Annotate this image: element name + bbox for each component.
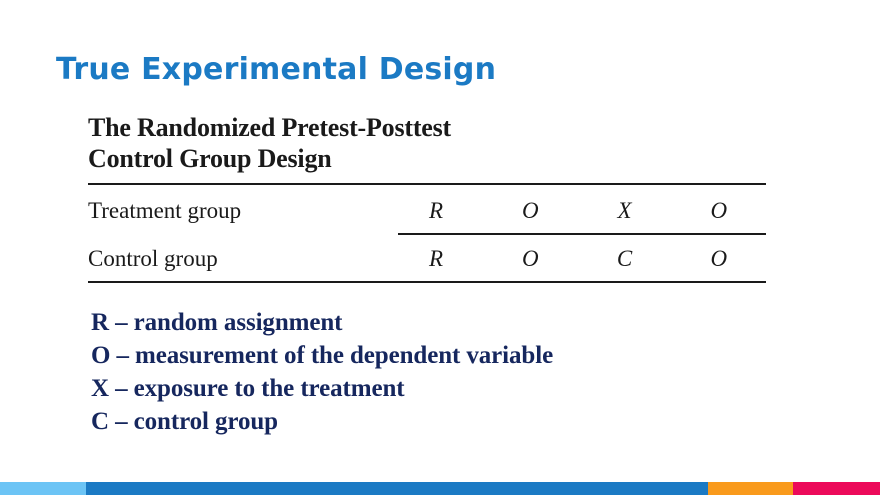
legend-item-x: X – exposure to the treatment (91, 372, 553, 405)
bottom-accent-bar (0, 482, 880, 495)
cell-control-symbol-4: O (672, 235, 766, 281)
table-middle-rule-line (398, 233, 766, 235)
design-heading: The Randomized Pretest-Posttest Control … (88, 112, 766, 174)
page-title: True Experimental Design (56, 52, 496, 87)
accent-segment-blue (86, 482, 708, 495)
legend-item-r: R – random assignment (91, 306, 553, 339)
design-heading-line-2: Control Group Design (88, 143, 766, 174)
accent-segment-light-blue (0, 482, 86, 495)
row-label-treatment-group: Treatment group (88, 185, 389, 233)
design-table-second: Control group R O C O (88, 235, 766, 281)
table-middle-rule (88, 233, 766, 235)
accent-segment-orange (708, 482, 793, 495)
cell-control-symbol-2: O (483, 235, 577, 281)
table-row: Treatment group R O X O (88, 185, 766, 233)
row-label-control-group: Control group (88, 235, 389, 281)
design-heading-line-1: The Randomized Pretest-Posttest (88, 112, 766, 143)
table-bottom-rule (88, 281, 766, 283)
design-table: Treatment group R O X O (88, 185, 766, 233)
slide-canvas: True Experimental Design The Randomized … (0, 0, 880, 495)
cell-treatment-symbol-3: X (577, 185, 671, 233)
legend-list: R – random assignment O – measurement of… (91, 306, 553, 438)
cell-treatment-symbol-1: R (389, 185, 483, 233)
design-diagram: The Randomized Pretest-Posttest Control … (88, 112, 766, 283)
cell-control-symbol-1: R (389, 235, 483, 281)
accent-segment-crimson (793, 482, 880, 495)
legend-item-c: C – control group (91, 405, 553, 438)
cell-treatment-symbol-2: O (483, 185, 577, 233)
cell-treatment-symbol-4: O (672, 185, 766, 233)
legend-item-o: O – measurement of the dependent variabl… (91, 339, 553, 372)
cell-control-symbol-3: C (577, 235, 671, 281)
table-row: Control group R O C O (88, 235, 766, 281)
table-middle-rule-spacer (88, 233, 398, 235)
